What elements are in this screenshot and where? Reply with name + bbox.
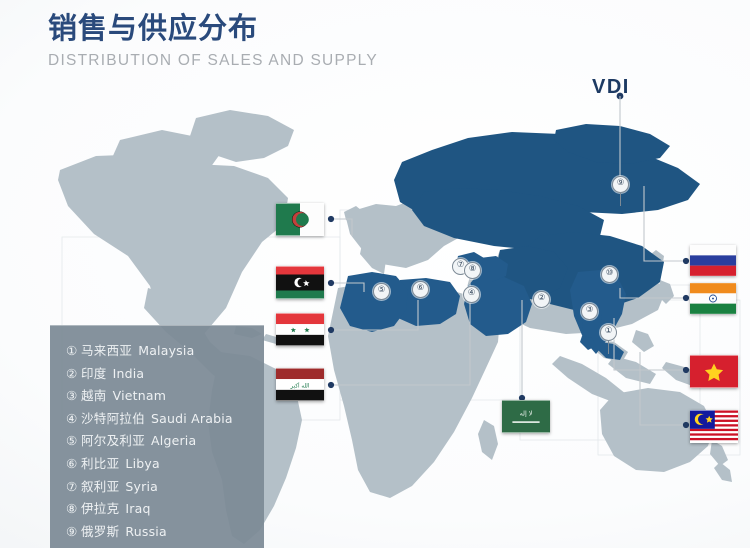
slide-canvas: VDI ⑨ ⑩ ② ③ ① ④ ⑦ ⑧ ⑥ ⑤ الله أكبر لا إله	[0, 0, 750, 548]
legend-label-en: Libya	[125, 456, 159, 471]
legend-item-saudi-arabia[interactable]: ④沙特阿拉伯Saudi Arabia	[66, 408, 264, 431]
legend-label-en: Malaysia	[138, 343, 194, 358]
legend-number: ⑥	[66, 453, 81, 476]
legend-item-vietnam[interactable]: ③越南Vietnam	[66, 385, 264, 408]
legend-number: ②	[66, 363, 81, 386]
legend-number: ⑧	[66, 498, 81, 521]
page-title: 销售与供应分布	[48, 8, 378, 48]
slide-header: 销售与供应分布 DISTRIBUTION OF SALES AND SUPPLY	[48, 8, 378, 72]
legend-label-cn: 越南	[81, 388, 107, 403]
svg-text:لا إله: لا إله	[520, 410, 533, 418]
flag-libya	[276, 266, 324, 299]
legend-number: ⑦	[66, 476, 81, 499]
legend-label-cn: 沙特阿拉伯	[81, 411, 145, 426]
legend-label-en: Russia	[125, 524, 166, 539]
flag-russia	[690, 245, 736, 276]
legend-label-en: Syria	[125, 479, 158, 494]
legend-label-cn: 阿尔及利亚	[81, 433, 145, 448]
legend-item-syria[interactable]: ⑦叙利亚Syria	[66, 476, 264, 499]
legend-label-en: Algeria	[151, 433, 196, 448]
legend-number: ④	[66, 408, 81, 431]
legend-label-cn: 伊拉克	[81, 501, 119, 516]
legend-item-libya[interactable]: ⑥利比亚Libya	[66, 453, 264, 476]
map-marker-libya[interactable]: ⑥	[412, 281, 429, 298]
legend-number: ③	[66, 385, 81, 408]
flag-iraq: الله أكبر	[276, 368, 324, 401]
legend-label-cn: 印度	[81, 366, 107, 381]
legend-label-en: Iraq	[125, 501, 150, 516]
map-marker-algeria[interactable]: ⑤	[373, 283, 390, 300]
legend-item-algeria[interactable]: ⑤阿尔及利亚Algeria	[66, 430, 264, 453]
legend-label-en: Vietnam	[113, 388, 167, 403]
legend-label-en: India	[113, 366, 145, 381]
flag-india	[690, 283, 736, 314]
legend-label-cn: 利比亚	[81, 456, 119, 471]
legend-label-en: Saudi Arabia	[151, 411, 233, 426]
legend-item-russia[interactable]: ⑨俄罗斯Russia	[66, 521, 264, 544]
flag-syria	[276, 313, 324, 346]
flag-algeria	[276, 203, 324, 236]
map-marker-vietnam[interactable]: ③	[581, 303, 598, 320]
flag-vietnam	[690, 355, 738, 388]
map-marker-iraq[interactable]: ⑧	[464, 262, 481, 279]
flag-saudi-arabia: لا إله	[502, 400, 550, 433]
legend-number: ⑤	[66, 430, 81, 453]
legend-number: ⑨	[66, 521, 81, 544]
legend-item-india[interactable]: ②印度India	[66, 363, 264, 386]
country-legend-panel: ①马来西亚Malaysia ②印度India ③越南Vietnam ④沙特阿拉伯…	[50, 325, 264, 548]
map-marker-saudi-arabia[interactable]: ④	[463, 286, 480, 303]
flag-malaysia	[690, 410, 738, 443]
legend-item-malaysia[interactable]: ①马来西亚Malaysia	[66, 340, 264, 363]
page-subtitle: DISTRIBUTION OF SALES AND SUPPLY	[48, 50, 378, 72]
legend-item-iraq[interactable]: ⑧伊拉克Iraq	[66, 498, 264, 521]
map-marker-india[interactable]: ②	[533, 291, 550, 308]
map-marker-russia[interactable]: ⑨	[612, 176, 629, 193]
map-marker-china[interactable]: ⑩	[601, 266, 618, 283]
map-marker-malaysia[interactable]: ①	[600, 324, 617, 341]
legend-label-cn: 马来西亚	[81, 343, 132, 358]
vdi-logo: VDI	[592, 76, 630, 99]
legend-label-cn: 叙利亚	[81, 479, 119, 494]
legend-number: ①	[66, 340, 81, 363]
legend-label-cn: 俄罗斯	[81, 524, 119, 539]
